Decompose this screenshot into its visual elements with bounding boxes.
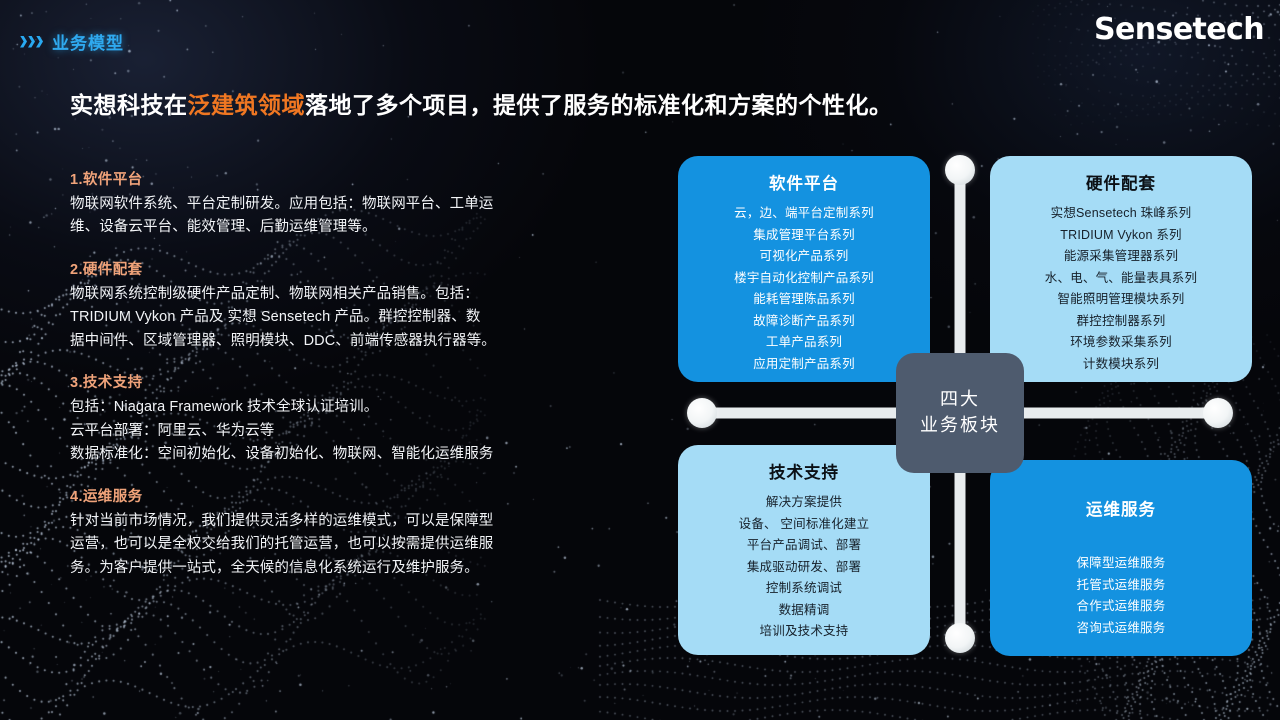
- text-block-line: 云平台部署：阿里云、华为云等: [70, 420, 570, 443]
- left-text-column: 1.软件平台物联网软件系统、平台定制研发。应用包括：物联网平台、工单运维、设备云…: [70, 168, 570, 598]
- hub-line-2: 业务板块: [920, 413, 1000, 438]
- card-list-item: 工单产品系列: [688, 332, 920, 354]
- headline-highlight: 泛建筑领域: [188, 92, 306, 118]
- card-list-item: 楼宇自动化控制产品系列: [688, 268, 920, 290]
- hub-line-1: 四大: [940, 387, 980, 412]
- card-list-item: 控制系统调试: [688, 578, 920, 600]
- card-list-item: 故障诊断产品系列: [688, 311, 920, 333]
- text-block-line: 运营，也可以是全权交给我们的托管运营，也可以按需提供运维服: [70, 533, 570, 556]
- headline-part-after: 落地了多个项目，提供了服务的标准化和方案的个性化。: [305, 92, 893, 118]
- card-list-item: 计数模块系列: [1000, 354, 1242, 376]
- text-block-line: TRIDIUM Vykon 产品及 实想 Sensetech 产品。群控控制器、…: [70, 306, 570, 329]
- breadcrumb-label: 业务模型: [52, 29, 124, 54]
- card-list-item: 智能照明管理模块系列: [1000, 289, 1242, 311]
- card-item-list: 实想Sensetech 珠峰系列TRIDIUM Vykon 系列能源采集管理器系…: [1000, 203, 1242, 375]
- text-block-title: 2.硬件配套: [70, 258, 570, 279]
- card-list-item: 保障型运维服务: [1000, 553, 1242, 575]
- text-block-line: 包括：Niagara Framework 技术全球认证培训。: [70, 396, 570, 419]
- card-list-item: 培训及技术支持: [688, 621, 920, 643]
- connector-dot-bottom: [945, 623, 975, 653]
- card-title: 运维服务: [1000, 474, 1242, 520]
- page-title: 实想科技在泛建筑领域落地了多个项目，提供了服务的标准化和方案的个性化。: [70, 86, 893, 120]
- card-list-item: 解决方案提供: [688, 492, 920, 514]
- card-list-item: 群控控制器系列: [1000, 311, 1242, 333]
- diagram-center-hub[interactable]: 四大 业务板块: [896, 353, 1024, 473]
- diagram-card-hardware-kit[interactable]: 硬件配套 实想Sensetech 珠峰系列TRIDIUM Vykon 系列能源采…: [990, 156, 1252, 382]
- connector-dot-right: [1203, 398, 1233, 428]
- text-block-line: 物联网系统控制级硬件产品定制、物联网相关产品销售。包括：: [70, 283, 570, 306]
- chevrons-right-icon: [20, 36, 43, 48]
- card-list-item: 集成驱动研发、部署: [688, 557, 920, 579]
- text-block: 2.硬件配套物联网系统控制级硬件产品定制、物联网相关产品销售。包括：TRIDIU…: [70, 258, 570, 353]
- card-list-item: 云，边、端平台定制系列: [688, 203, 920, 225]
- card-list-item: 集成管理平台系列: [688, 225, 920, 247]
- diagram-card-tech-support[interactable]: 技术支持 解决方案提供设备、 空间标准化建立平台产品调试、部署集成驱动研发、部署…: [678, 445, 930, 655]
- text-block: 1.软件平台物联网软件系统、平台定制研发。应用包括：物联网平台、工单运维、设备云…: [70, 168, 570, 240]
- diagram-card-software-platform[interactable]: 软件平台 云，边、端平台定制系列集成管理平台系列可视化产品系列楼宇自动化控制产品…: [678, 156, 930, 382]
- text-block-line: 针对当前市场情况，我们提供灵活多样的运维模式，可以是保障型: [70, 510, 570, 533]
- text-block: 3.技术支持包括：Niagara Framework 技术全球认证培训。云平台部…: [70, 371, 570, 466]
- card-list-item: 实想Sensetech 珠峰系列: [1000, 203, 1242, 225]
- card-item-list: 解决方案提供设备、 空间标准化建立平台产品调试、部署集成驱动研发、部署控制系统调…: [688, 492, 920, 643]
- text-block-title: 4.运维服务: [70, 485, 570, 506]
- text-block-line: 数据标准化：空间初始化、设备初始化、物联网、智能化运维服务: [70, 443, 570, 466]
- brand-logo: Sensetech: [1094, 12, 1264, 47]
- card-list-item: 托管式运维服务: [1000, 575, 1242, 597]
- card-title: 软件平台: [688, 170, 920, 194]
- card-list-item: 应用定制产品系列: [688, 354, 920, 376]
- card-list-item: 可视化产品系列: [688, 246, 920, 268]
- text-block-line: 维、设备云平台、能效管理、后勤运维管理等。: [70, 216, 570, 239]
- card-item-list: 保障型运维服务托管式运维服务合作式运维服务咨询式运维服务: [1000, 529, 1242, 639]
- text-block: 4.运维服务针对当前市场情况，我们提供灵活多样的运维模式，可以是保障型运营，也可…: [70, 485, 570, 580]
- card-list-item: TRIDIUM Vykon 系列: [1000, 225, 1242, 247]
- card-list-item: 数据精调: [688, 600, 920, 622]
- breadcrumb: 业务模型: [20, 29, 124, 54]
- connector-dot-left: [687, 398, 717, 428]
- card-list-item: 咨询式运维服务: [1000, 618, 1242, 640]
- text-block-line: 据中间件、区域管理器、照明模块、DDC、前端传感器执行器等。: [70, 330, 570, 353]
- card-list-item: 合作式运维服务: [1000, 596, 1242, 618]
- card-title: 技术支持: [688, 459, 920, 483]
- text-block-title: 3.技术支持: [70, 371, 570, 392]
- connector-dot-top: [945, 155, 975, 185]
- page-header: 业务模型 Sensetech: [0, 0, 1280, 62]
- card-list-item: 能源采集管理器系列: [1000, 246, 1242, 268]
- card-list-item: 能耗管理陈品系列: [688, 289, 920, 311]
- text-block-line: 务。为客户提供一站式，全天候的信息化系统运行及维护服务。: [70, 557, 570, 580]
- text-block-line: 物联网软件系统、平台定制研发。应用包括：物联网平台、工单运: [70, 193, 570, 216]
- card-title: 硬件配套: [1000, 170, 1242, 194]
- text-block-title: 1.软件平台: [70, 168, 570, 189]
- headline-part-before: 实想科技在: [70, 92, 188, 118]
- card-list-item: 水、电、气、能量表具系列: [1000, 268, 1242, 290]
- diagram-card-ops-service[interactable]: 运维服务 保障型运维服务托管式运维服务合作式运维服务咨询式运维服务: [990, 460, 1252, 656]
- card-list-item: 设备、 空间标准化建立: [688, 514, 920, 536]
- card-list-item: 环境参数采集系列: [1000, 332, 1242, 354]
- four-segments-diagram: 软件平台 云，边、端平台定制系列集成管理平台系列可视化产品系列楼宇自动化控制产品…: [660, 140, 1260, 685]
- card-item-list: 云，边、端平台定制系列集成管理平台系列可视化产品系列楼宇自动化控制产品系列能耗管…: [688, 203, 920, 375]
- card-list-item: 平台产品调试、部署: [688, 535, 920, 557]
